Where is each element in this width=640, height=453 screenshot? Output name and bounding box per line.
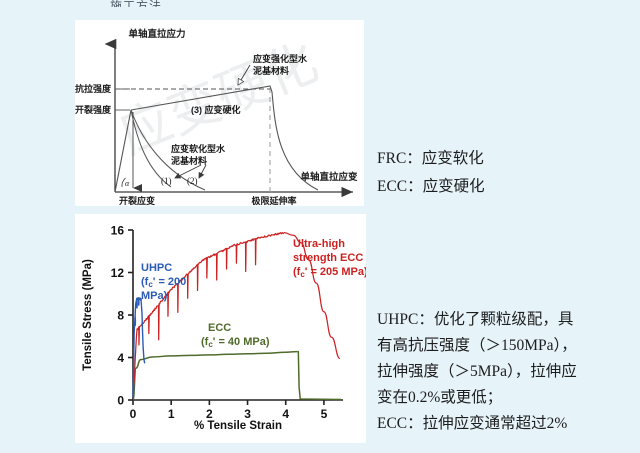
chart-ylabel: Tensile Stress (MPa) [82,259,94,371]
annotation-strain-hardening-line2: 泥基材料 [253,65,289,76]
uhpc-label-line1: UHPC [141,262,172,274]
x-tick-label: 5 [321,407,328,421]
annotation-curve-3: (3) 应变硬化 [191,104,241,115]
screenshot-root: 施工方法 应 [0,0,640,453]
ecc-curve [133,352,297,400]
note-frc: FRC：应变软化 [377,146,484,172]
annotation-strain-hardening-line1: 应变强化型水 [253,53,308,64]
y-axis-label: 单轴直拉应力 [128,28,185,40]
ecc-label-line1: ECC [208,322,231,334]
uhs-ecc-series-label: Ultra-high strength ECC (fc' = 205 MPa) [293,238,366,279]
chart-xlabel: % Tensile Strain [194,420,282,432]
y-tick-cracking-strength: 开裂强度 [75,104,112,115]
note-paragraph-line: 变在0.2%或更低； [377,385,635,411]
alpha-label: α [125,179,130,188]
marker-curve-1: (1) [161,176,172,186]
chart-y-ticks: 0481216 [111,224,133,408]
ecc-series-label: ECC (fc' = 40 MPa) [201,322,270,349]
x-tick-label: 1 [168,407,175,421]
uhpc-label-line3: MPa) [141,290,168,302]
schematic-figure-panel: 应变硬化 [75,20,364,206]
leader-curve-2 [199,165,206,178]
note-paragraph-line: ECC：拉伸应变通常超过2% [377,411,635,437]
uhs-ecc-label-line1: Ultra-high [293,238,345,250]
x-tick-label: 3 [244,407,251,421]
note-paragraph-line: 有高抗压强度（＞150MPa）， [377,333,635,359]
top-clipped-text: 施工方法 [110,0,230,7]
uhs-ecc-label-line2: strength ECC [293,252,363,264]
note-paragraph-line: UHPC：优化了颗粒级配，具 [377,307,635,333]
x-tick-label: 0 [130,407,137,421]
y-tick-label: 8 [117,309,124,323]
uhpc-curve-drop [141,300,145,364]
x-tick-cracking-strain: 开裂应变 [119,195,155,206]
schematic-svg: 应变硬化 [75,20,364,206]
y-tick-tensile-strength: 抗拉强度 [75,83,112,94]
marker-curve-2: (2) [187,176,198,186]
ecc-label-line2: (fc' = 40 MPa) [201,336,270,349]
x-tick-ultimate-elongation: 极限延伸率 [251,195,296,206]
x-tick-label: 4 [282,407,289,421]
note-paragraph-line: 拉伸强度（＞5MPa），拉伸应 [377,359,635,385]
x-tick-label: 2 [206,407,213,421]
uhs-ecc-curve-hardening [133,233,284,398]
note-paragraph: UHPC：优化了颗粒级配，具有高抗压强度（＞150MPa），拉伸强度（＞5MPa… [377,307,635,437]
y-tick-label: 16 [111,224,125,238]
y-tick-label: 4 [117,351,124,365]
ecc-curve-failure [297,352,341,400]
tensile-chart-svg: 0481216 012345 Tensile Stress (MPa) % Te… [75,214,366,443]
uhpc-label-line2: (fc' = 200 [141,276,186,289]
annotation-strain-softening-line2: 泥基材料 [171,155,207,166]
annotation-strain-softening-line1: 应变软化型水 [171,143,226,154]
note-ecc: ECC：应变硬化 [377,174,485,200]
uhs-ecc-label-line3: (fc' = 205 MPa) [293,266,366,279]
chart-x-ticks: 012345 [130,400,328,421]
y-tick-label: 0 [117,394,124,408]
uhpc-series-label: UHPC (fc' = 200 MPa) [141,262,186,302]
y-tick-label: 12 [111,266,125,280]
tensile-stress-strain-chart-panel: 0481216 012345 Tensile Stress (MPa) % Te… [75,214,366,443]
x-axis-label: 单轴直拉应变 [300,171,358,183]
